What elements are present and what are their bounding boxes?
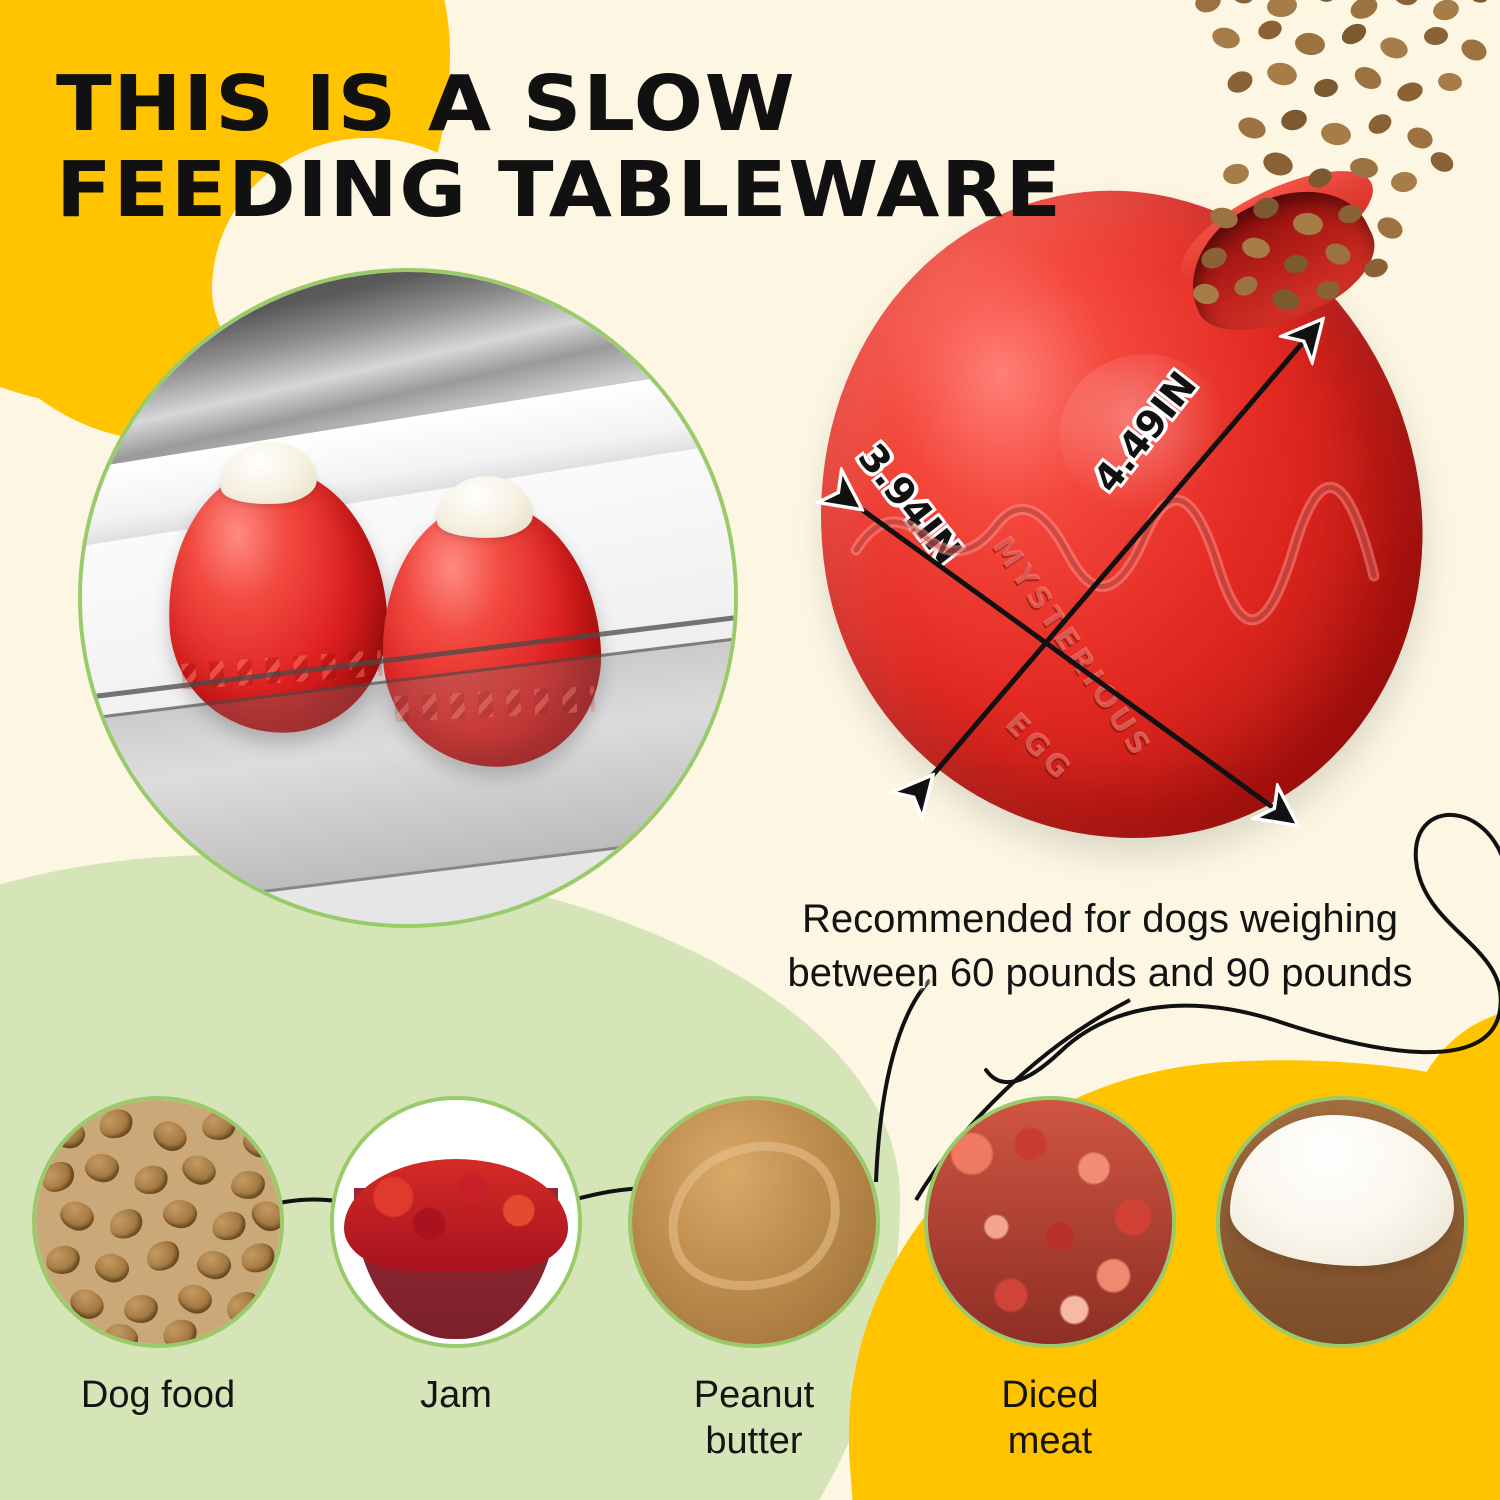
weight-recommendation-text: Recommended for dogs weighing between 60… [736, 893, 1464, 1000]
falling-kibble-stream [1178, 0, 1500, 316]
kibble-svg [1178, 0, 1500, 316]
cream-photo [1216, 1096, 1468, 1348]
filling-option-diced-meat: Diced meat [900, 1096, 1200, 1465]
fridge-storage-photo [78, 268, 738, 928]
dog-food-photo [32, 1096, 284, 1348]
cream-swirl [1230, 1115, 1454, 1266]
infographic-canvas: THIS IS A SLOW FEEDING TABLEWARE [0, 0, 1500, 1500]
jam-contents [344, 1159, 568, 1271]
filling-option-dog-food: Dog food [8, 1096, 308, 1418]
filling-option-peanut-butter: Peanut butter [604, 1096, 904, 1465]
peanut-butter-swirl [648, 1120, 860, 1314]
peanut-butter-label: Peanut butter [604, 1372, 904, 1465]
filling-option-jam: Jam [306, 1096, 606, 1418]
peanut-butter-photo [628, 1096, 880, 1348]
jam-photo [330, 1096, 582, 1348]
fridge-photo-art [82, 272, 734, 924]
filling-options-row: Dog food Jam Peanut butter [0, 1080, 1500, 1500]
jam-bowl-icon [334, 1100, 578, 1344]
headline-line-2: FEEDING TABLEWARE [56, 148, 1180, 234]
kibble-icon [36, 1100, 280, 1344]
diced-meat-icon [928, 1100, 1172, 1344]
peanut-butter-icon [632, 1100, 876, 1344]
diced-meat-label-line-2: meat [1008, 1420, 1092, 1462]
diced-meat-photo [924, 1096, 1176, 1348]
dog-food-label: Dog food [8, 1372, 308, 1418]
diced-meat-label-line-1: Diced [1001, 1374, 1098, 1416]
jam-label: Jam [306, 1372, 606, 1418]
headline-line-1: THIS IS A SLOW [56, 60, 796, 149]
diced-meat-label: Diced meat [900, 1372, 1200, 1465]
headline: THIS IS A SLOW FEEDING TABLEWARE [56, 62, 1180, 234]
cream-bowl-icon [1220, 1100, 1464, 1344]
peanut-butter-label-line-2: butter [705, 1420, 802, 1462]
filling-option-cream [1192, 1096, 1492, 1372]
peanut-butter-label-line-1: Peanut [694, 1374, 814, 1416]
